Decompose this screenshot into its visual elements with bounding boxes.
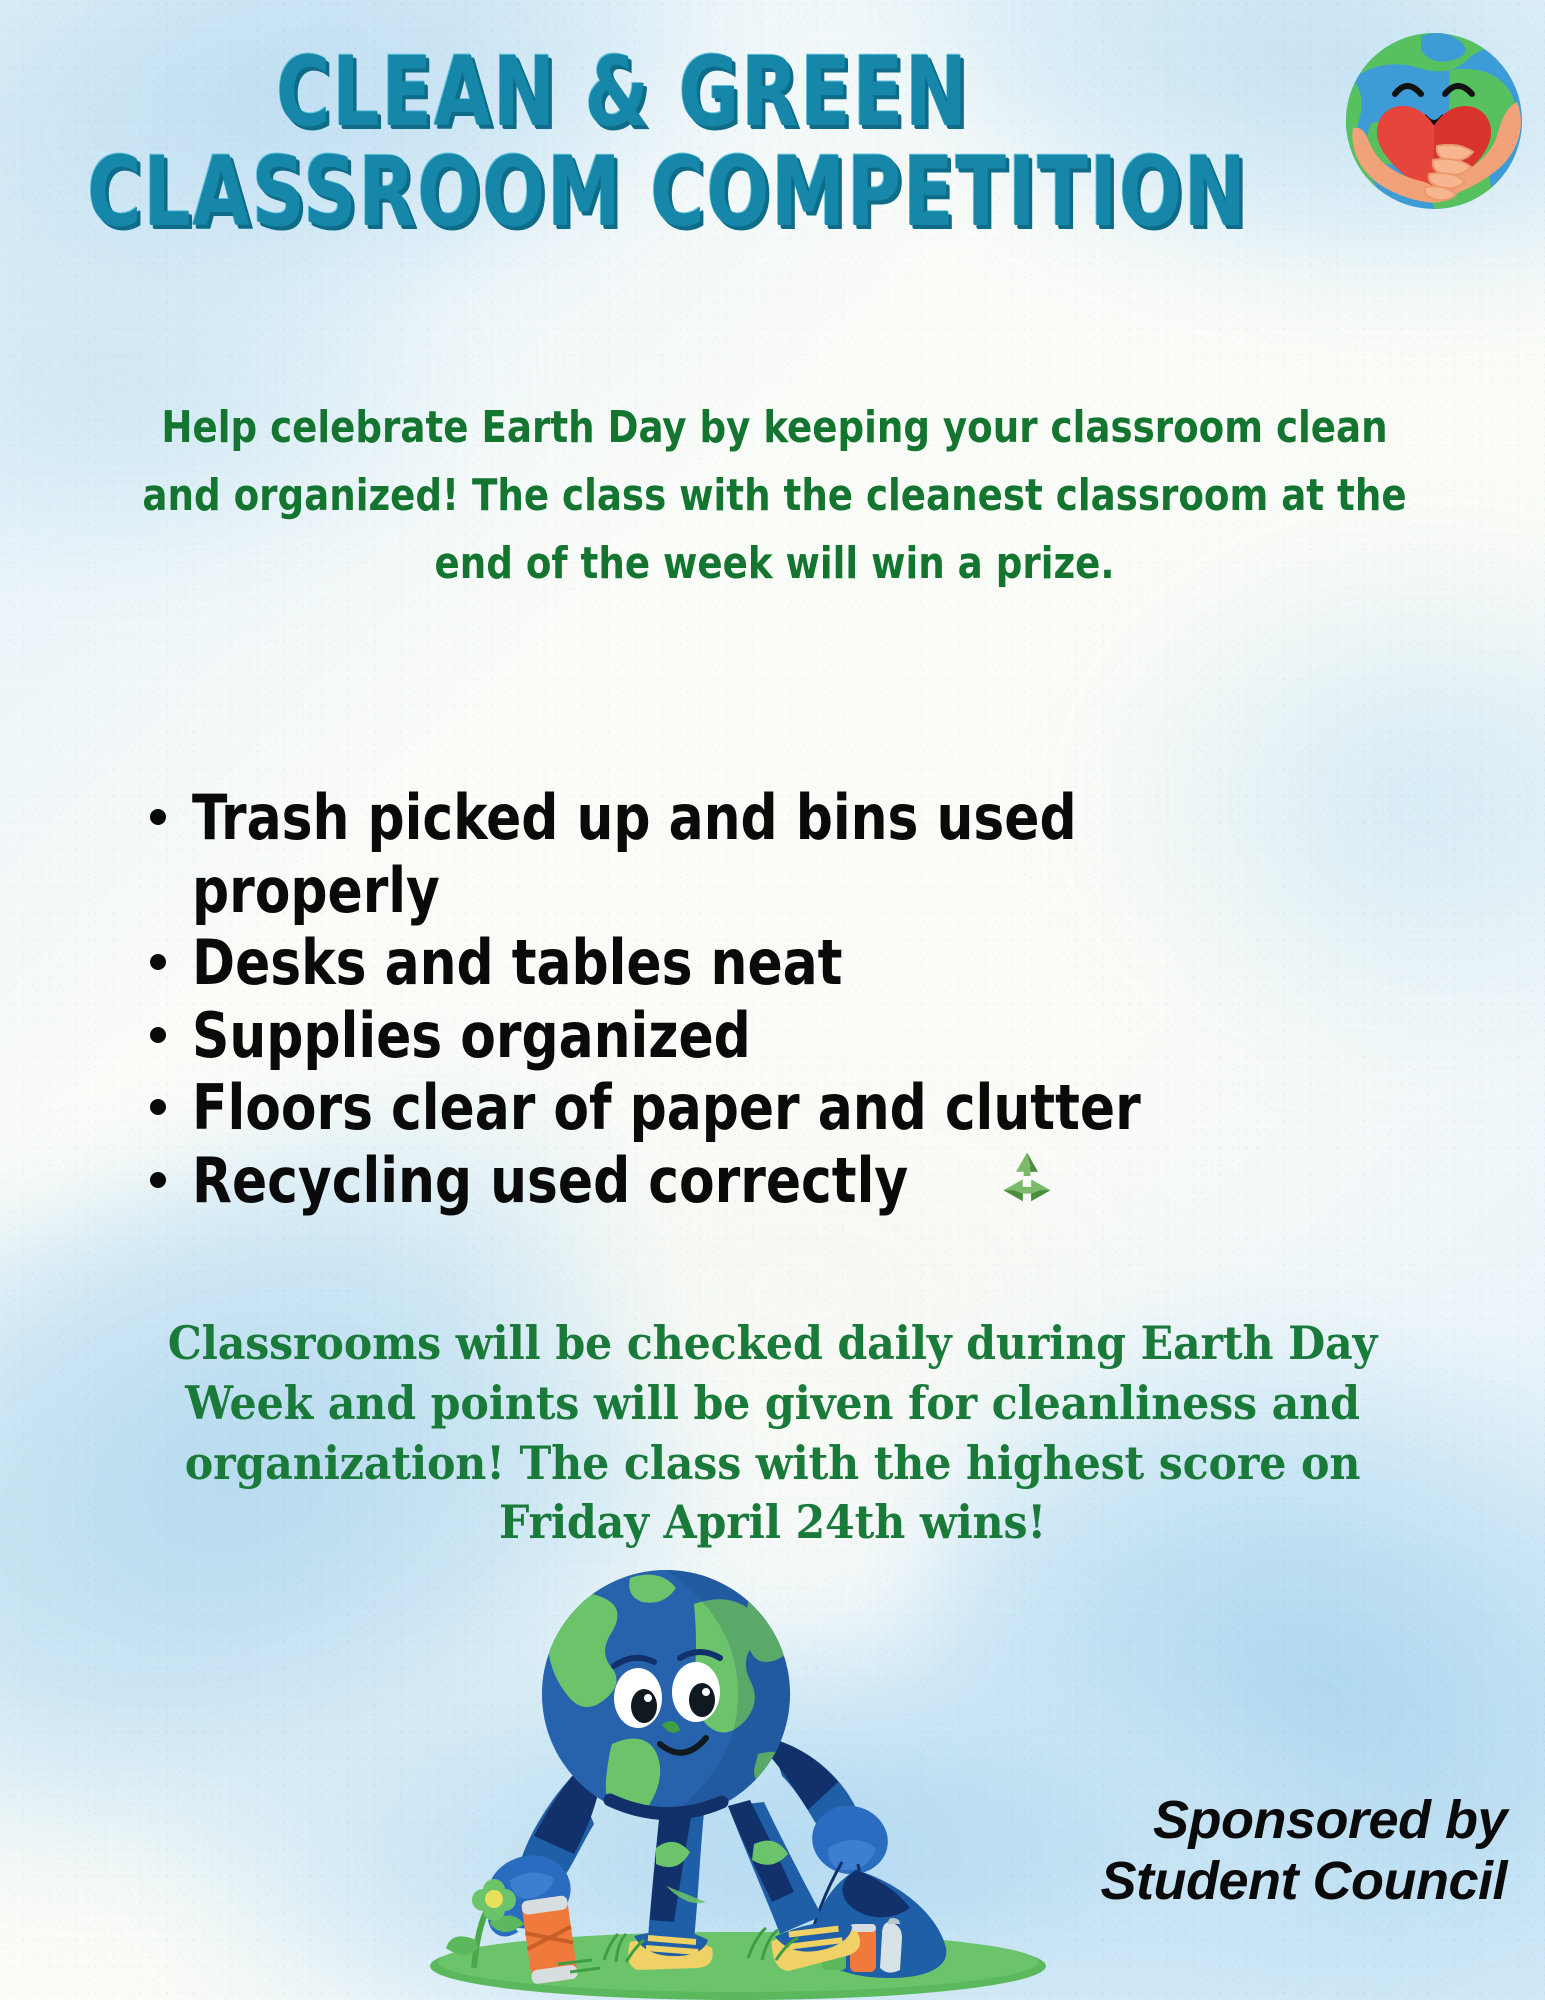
checklist-item-label: Trash picked up and bins used properly	[192, 782, 1325, 927]
bullet-dot-icon	[150, 1099, 166, 1115]
checklist-item: Supplies organized	[150, 1000, 1410, 1073]
bullet-dot-icon	[150, 1172, 166, 1188]
bullet-dot-icon	[150, 809, 166, 825]
checklist: Trash picked up and bins used properly D…	[150, 782, 1410, 1217]
recycling-icon	[1000, 1145, 1054, 1197]
sponsor-line-1: Sponsored by	[1101, 1790, 1507, 1851]
intro-paragraph: Help celebrate Earth Day by keeping your…	[133, 394, 1416, 599]
checklist-item-label: Desks and tables neat	[192, 927, 842, 1000]
poster-title-line-2: CLASSROOM COMPETITION	[87, 146, 1158, 238]
bullet-dot-icon	[150, 954, 166, 970]
poster-title: CLEAN & GREEN CLASSROOM COMPETITION	[0, 46, 1245, 238]
checklist-item: Desks and tables neat	[150, 927, 1410, 1000]
checklist-item: Floors clear of paper and clutter	[150, 1072, 1410, 1145]
checklist-item-label: Supplies organized	[192, 1000, 751, 1073]
earth-cleanup-icon	[398, 1548, 1098, 2000]
earth-heart-icon	[1341, 28, 1527, 214]
checklist-item-label: Recycling used correctly	[192, 1145, 908, 1218]
checklist-item-label: Floors clear of paper and clutter	[192, 1072, 1141, 1145]
sponsor-line-2: Student Council	[1101, 1851, 1507, 1912]
poster-canvas: CLEAN & GREEN CLASSROOM COMPETITION	[0, 0, 1545, 2000]
bullet-dot-icon	[150, 1027, 166, 1043]
poster-title-line-1: CLEAN & GREEN	[87, 46, 1158, 138]
checklist-item: Recycling used correctly	[150, 1145, 1410, 1218]
notice-paragraph: Classrooms will be checked daily during …	[119, 1314, 1426, 1553]
sponsor-credit: Sponsored by Student Council	[1101, 1790, 1507, 1912]
checklist-item: Trash picked up and bins used properly	[150, 782, 1410, 927]
